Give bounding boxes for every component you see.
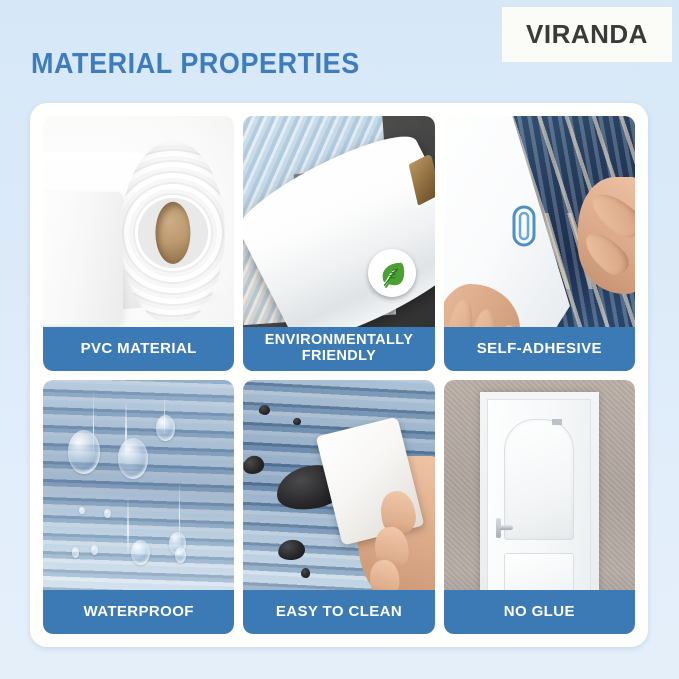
roll-core <box>156 202 191 264</box>
brand-name: VIRANDA <box>526 19 648 50</box>
brand-logo: VIRANDA <box>502 7 672 62</box>
feature-caption-pvc-material: PVC MATERIAL <box>43 327 234 371</box>
feature-cell-waterproof[interactable]: WATERPROOF <box>43 380 234 635</box>
door-frame <box>480 392 599 616</box>
door-handle-icon <box>496 518 512 537</box>
feature-cell-no-glue[interactable]: NO GLUE <box>444 380 635 635</box>
feature-card: PVC MATERIAL <box>30 103 648 647</box>
door-leaf <box>487 399 591 616</box>
paperclip-icon <box>509 203 539 249</box>
feature-caption-self-adhesive: SELF-ADHESIVE <box>444 327 635 371</box>
feature-caption-environmentally-friendly: ENVIRONMENTALLY FRIENDLY <box>243 327 434 371</box>
feature-cell-self-adhesive[interactable]: SELF-ADHESIVE <box>444 116 635 371</box>
feature-caption-easy-to-clean: EASY TO CLEAN <box>243 590 434 634</box>
feature-grid: PVC MATERIAL <box>43 116 635 634</box>
feature-caption-waterproof: WATERPROOF <box>43 590 234 634</box>
feature-cell-environmentally-friendly[interactable]: ENVIRONMENTALLY FRIENDLY <box>243 116 434 371</box>
feature-cell-pvc-material[interactable]: PVC MATERIAL <box>43 116 234 371</box>
feature-cell-easy-to-clean[interactable]: EASY TO CLEAN <box>243 380 434 635</box>
feature-caption-no-glue: NO GLUE <box>444 590 635 634</box>
leaf-icon <box>377 258 407 288</box>
paperclip-badge <box>509 203 539 254</box>
page-title: MATERIAL PROPERTIES <box>31 48 360 81</box>
eco-badge <box>368 249 416 297</box>
